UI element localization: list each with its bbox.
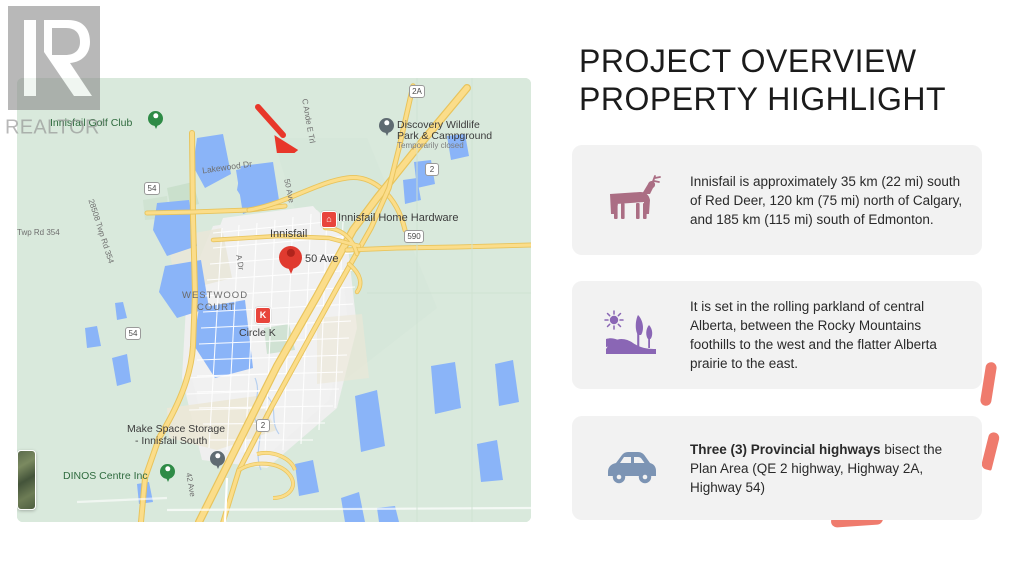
landscape-sun-glyph (600, 309, 662, 361)
shield-2-north: 2 (425, 163, 439, 176)
shield-54-north: 54 (144, 182, 160, 195)
satellite-thumbnail-inset[interactable] (17, 450, 36, 510)
dinos-centre-pin[interactable] (160, 464, 175, 479)
info-card-location[interactable]: Innisfail is approximately 35 km (22 mi)… (572, 145, 982, 255)
shield-2a: 2A (409, 85, 425, 98)
landscape-sun-icon (572, 309, 690, 361)
decor-blob-right-1 (980, 361, 998, 406)
deer-icon (572, 174, 690, 226)
innisfail-golf-club-pin[interactable] (148, 111, 163, 126)
car-icon (572, 446, 690, 490)
overview-panel: PROJECT OVERVIEW PROPERTY HIGHLIGHT (561, 0, 1023, 567)
info-card-highways-lead: Three (3) Provincial highways (690, 442, 881, 457)
info-card-geography[interactable]: It is set in the rolling parkland of cen… (572, 281, 982, 389)
50-ave-property-pin[interactable] (279, 246, 302, 269)
info-card-highways-text: Three (3) Provincial highways bisect the… (690, 440, 982, 497)
red-arrow-icon (241, 93, 311, 153)
page-title: PROJECT OVERVIEW PROPERTY HIGHLIGHT (579, 42, 1009, 118)
shield-590: 590 (404, 230, 424, 243)
shield-54-south: 54 (125, 327, 141, 340)
deer-glyph (600, 174, 662, 226)
home-hardware-icon[interactable]: ⌂ (321, 211, 337, 228)
shield-2-south: 2 (256, 419, 270, 432)
location-map[interactable]: ⌂ K Innisfail Golf Club Discovery Wildli… (17, 78, 531, 522)
page-title-line-1: PROJECT OVERVIEW (579, 42, 1009, 80)
hardware-glyph: ⌂ (322, 212, 336, 227)
info-card-highways[interactable]: Three (3) Provincial highways bisect the… (572, 416, 982, 520)
circle-k-glyph: K (256, 308, 270, 323)
page-title-line-2: PROPERTY HIGHLIGHT (579, 80, 1009, 118)
info-card-location-text: Innisfail is approximately 35 km (22 mi)… (690, 172, 982, 229)
grey-pin-south[interactable] (210, 451, 225, 466)
decor-blob-right-2 (981, 431, 1001, 471)
circle-k-icon[interactable]: K (255, 307, 271, 324)
info-card-geography-text: It is set in the rolling parkland of cen… (690, 297, 982, 373)
car-glyph (600, 446, 662, 490)
discovery-wildlife-pin[interactable] (379, 118, 394, 133)
